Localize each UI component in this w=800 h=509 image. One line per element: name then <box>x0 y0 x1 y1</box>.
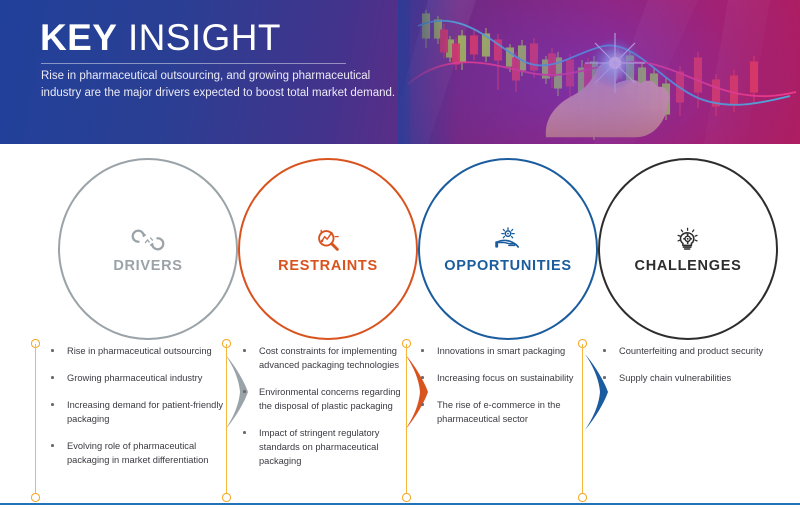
process-node-restraints[interactable]: RESTRAINTS <box>238 158 418 340</box>
page-title: KEY INSIGHT <box>40 16 281 60</box>
list-item-text: Counterfeiting and product security <box>619 346 763 356</box>
bullet-dot <box>421 349 424 352</box>
page-title-light: INSIGHT <box>128 17 281 58</box>
lightbulb-gear-icon <box>671 225 705 255</box>
footer-rule <box>0 503 800 505</box>
list-item-text: Rise in pharmaceutical outsourcing <box>67 346 212 356</box>
node-label: OPPORTUNITIES <box>444 258 572 274</box>
list-item: Rise in pharmaceutical outsourcing <box>48 344 224 358</box>
bullet-dot <box>603 376 606 379</box>
bullet-dot <box>51 403 54 406</box>
node-label: RESTRAINTS <box>278 258 378 274</box>
bullet-list: Counterfeiting and product security Supp… <box>600 344 776 385</box>
process-node-challenges[interactable]: CHALLENGES <box>598 158 778 340</box>
title-divider <box>41 63 346 64</box>
bullet-columns: Rise in pharmaceutical outsourcing Growi… <box>0 344 800 504</box>
list-item: Increasing focus on sustainability <box>418 371 594 385</box>
list-item-text: Evolving role of pharmaceutical packagin… <box>67 441 208 465</box>
list-item-text: Impact of stringent regulatory standards… <box>259 428 379 466</box>
list-item: Innovations in smart packaging <box>418 344 594 358</box>
list-item-text: Environmental concerns regarding the dis… <box>259 387 401 411</box>
list-item: Counterfeiting and product security <box>600 344 776 358</box>
list-item: Supply chain vulnerabilities <box>600 371 776 385</box>
list-item: Environmental concerns regarding the dis… <box>240 385 416 413</box>
stock-chart-artwork <box>398 0 800 144</box>
process-node-drivers[interactable]: DRIVERS <box>58 158 238 340</box>
bullet-dot <box>243 390 246 393</box>
header-subtitle: Rise in pharmaceutical outsourcing, and … <box>41 68 401 102</box>
bullet-dot <box>51 349 54 352</box>
list-item-text: Increasing demand for patient-friendly p… <box>67 400 223 424</box>
bullet-column-opportunities: Innovations in smart packaging Increasin… <box>418 344 594 439</box>
hand-holding-idea-icon <box>491 225 525 255</box>
list-item: Increasing demand for patient-friendly p… <box>48 398 224 426</box>
bullet-dot <box>421 376 424 379</box>
process-row: DRIVERS RESTRAINTS <box>0 144 800 344</box>
list-item-text: Supply chain vulnerabilities <box>619 373 731 383</box>
bullet-column-restraints: Cost constraints for implementing advanc… <box>240 344 416 481</box>
page-title-bold: KEY <box>40 17 117 58</box>
bullet-dot <box>603 349 606 352</box>
bullet-dot <box>243 431 246 434</box>
list-item-text: Growing pharmaceutical industry <box>67 373 202 383</box>
bullet-dot <box>421 403 424 406</box>
bullet-dot <box>51 376 54 379</box>
list-item-text: The rise of e-commerce in the pharmaceut… <box>437 400 561 424</box>
bullet-dot <box>51 444 54 447</box>
process-node-opportunities[interactable]: OPPORTUNITIES <box>418 158 598 340</box>
node-label: CHALLENGES <box>635 258 742 274</box>
bullet-column-challenges: Counterfeiting and product security Supp… <box>600 344 776 398</box>
bullet-list: Innovations in smart packaging Increasin… <box>418 344 594 426</box>
list-item: Impact of stringent regulatory standards… <box>240 426 416 468</box>
node-label: DRIVERS <box>113 258 182 274</box>
list-item-text: Innovations in smart packaging <box>437 346 565 356</box>
infographic-canvas: KEY INSIGHT Rise in pharmaceutical outso… <box>0 0 800 509</box>
list-item: Evolving role of pharmaceutical packagin… <box>48 439 224 467</box>
bullet-dot <box>243 349 246 352</box>
list-item: Cost constraints for implementing advanc… <box>240 344 416 372</box>
cycle-arrows-icon <box>131 225 165 255</box>
list-item: Growing pharmaceutical industry <box>48 371 224 385</box>
bullet-list: Cost constraints for implementing advanc… <box>240 344 416 468</box>
header-banner: KEY INSIGHT Rise in pharmaceutical outso… <box>0 0 800 144</box>
bullet-list: Rise in pharmaceutical outsourcing Growi… <box>48 344 224 467</box>
list-item: The rise of e-commerce in the pharmaceut… <box>418 398 594 426</box>
list-item-text: Cost constraints for implementing advanc… <box>259 346 399 370</box>
list-item-text: Increasing focus on sustainability <box>437 373 573 383</box>
bullet-column-drivers: Rise in pharmaceutical outsourcing Growi… <box>48 344 224 480</box>
magnifier-chart-icon <box>311 225 345 255</box>
